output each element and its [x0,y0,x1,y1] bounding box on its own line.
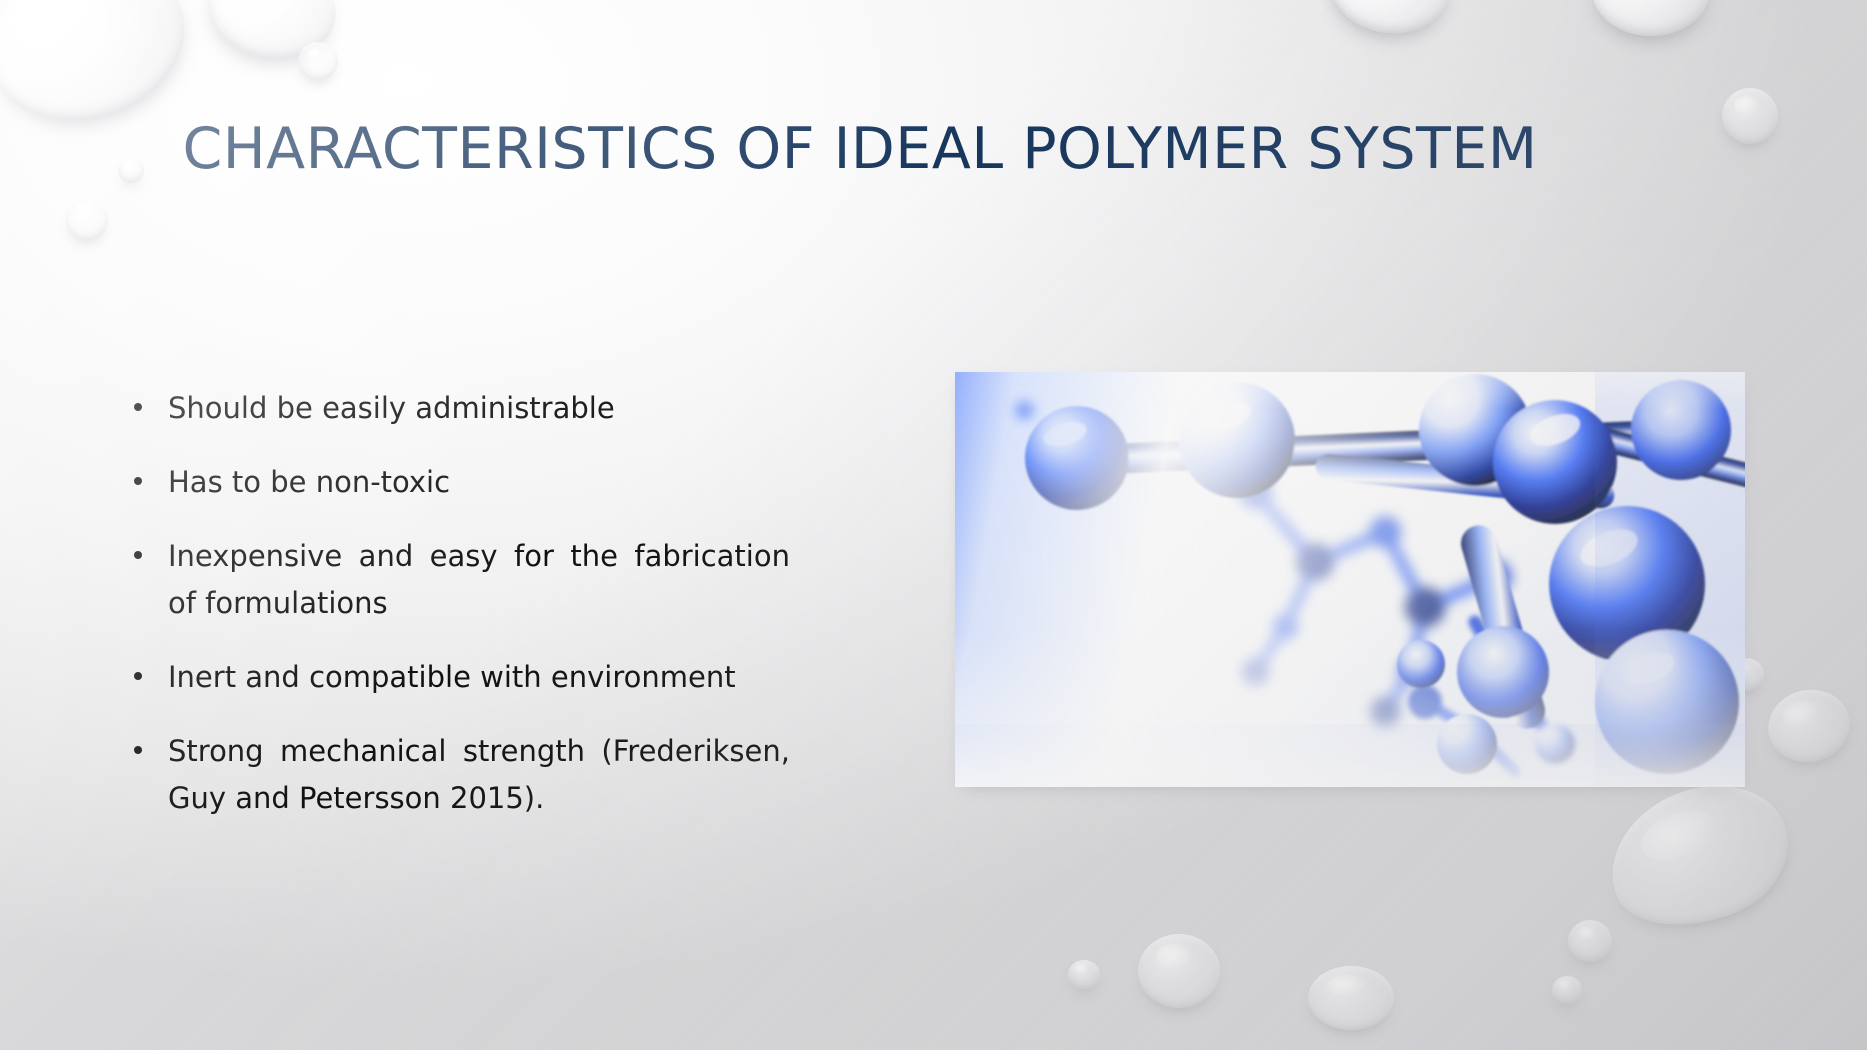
droplet-decoration-bottomright-large [1591,763,1807,949]
droplet-decoration-left-tiny [118,158,144,183]
list-item: Should be easily administrable [130,385,790,432]
list-item: Has to be non-toxic [130,459,790,506]
bullet-dot-icon [134,551,142,559]
list-item: Inert and compatible with environment [130,654,790,701]
molecular-structure-image [955,372,1745,787]
droplet-decoration-bottomcenter-tiny [1068,960,1100,989]
list-item-text: Strong mechanical strength (Frederiksen,… [168,734,790,815]
droplet-decoration-bottomcenter-large [1138,934,1220,1008]
bullet-dot-icon [134,477,142,485]
list-item-text: Has to be non-toxic [168,465,450,499]
molecule-illustration [955,372,1745,787]
droplet-decoration-topright-small [1722,88,1778,144]
slide-title: Characteristics of ideal polymer system [180,118,1540,182]
list-item: Inexpensive and easy for the fabrication… [130,533,790,627]
bullet-dot-icon [134,672,142,680]
list-item-text: Inexpensive and easy for the fabrication… [168,539,790,620]
bullet-dot-icon [134,746,142,754]
droplet-decoration-bottomright-mid [1552,976,1582,1004]
droplet-decoration-bottomcenter-right [1308,966,1394,1030]
list-item-text: Inert and compatible with environment [168,660,736,694]
droplet-decoration-topright-b [1592,0,1710,36]
droplet-decoration-topleft-small [298,42,338,80]
list-item-text: Should be easily administrable [168,391,615,425]
droplet-decoration-large-topleft [0,0,205,144]
droplet-decoration-left-small [66,200,108,240]
droplet-decoration-topright-a [1324,0,1456,41]
droplet-decoration-topleft-b [200,0,343,68]
bullet-dot-icon [134,403,142,411]
presentation-slide: Characteristics of ideal polymer system … [0,0,1867,1050]
droplet-decoration-bottomright-b [1568,920,1612,962]
droplet-decoration-bottomright-oval [1761,681,1858,771]
bullet-list: Should be easily administrable Has to be… [130,385,790,822]
list-item: Strong mechanical strength (Frederiksen,… [130,728,790,822]
